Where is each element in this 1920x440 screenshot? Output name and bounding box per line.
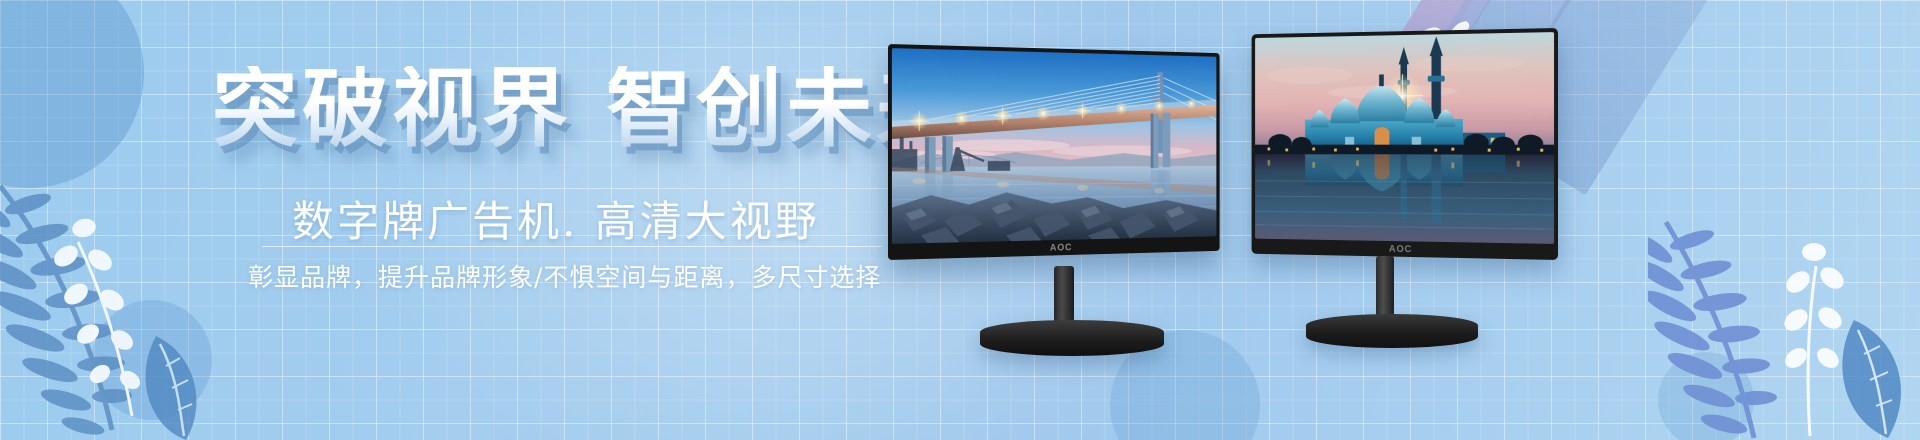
monitor-stand-base — [980, 320, 1164, 356]
product-monitor-back[interactable]: AOC — [1228, 28, 1558, 348]
subtitle: 数字牌广告机. 高清大视野 — [292, 188, 820, 249]
tagline: 彰显品牌，提升品牌形象/不惧空间与距离，多尺寸选择 — [248, 258, 881, 294]
decor-circle-bottom-left — [92, 300, 212, 420]
divider — [262, 246, 882, 247]
promo-banner: 突破视界 智创未来 数字牌广告机. 高清大视野 彰显品牌，提升品牌形象/不惧空间… — [0, 0, 1920, 440]
monitor-stand-neck — [1376, 256, 1394, 322]
monitor-panel: AOC — [888, 44, 1220, 260]
bridge-scene-artwork — [892, 48, 1216, 244]
mosque-scene-artwork — [1255, 32, 1554, 244]
monitor-screen-bridge — [892, 48, 1216, 244]
brand-logo-aoc: AOC — [1050, 243, 1072, 254]
monitor-stand-base — [1306, 314, 1478, 348]
decor-circle-top-left — [0, 0, 144, 188]
palm-frond-icon — [1648, 212, 1920, 440]
monitor-screen-mosque — [1255, 32, 1554, 244]
page-title: 突破视界 智创未来 — [212, 66, 966, 152]
brand-logo-aoc: AOC — [1389, 244, 1412, 255]
monitor-stand-neck — [1054, 266, 1074, 328]
product-monitor-front[interactable]: AOC — [888, 44, 1268, 344]
palm-frond-icon — [0, 168, 280, 440]
decor-circle-right — [1658, 352, 1754, 440]
monitor-panel: AOC — [1252, 28, 1558, 260]
